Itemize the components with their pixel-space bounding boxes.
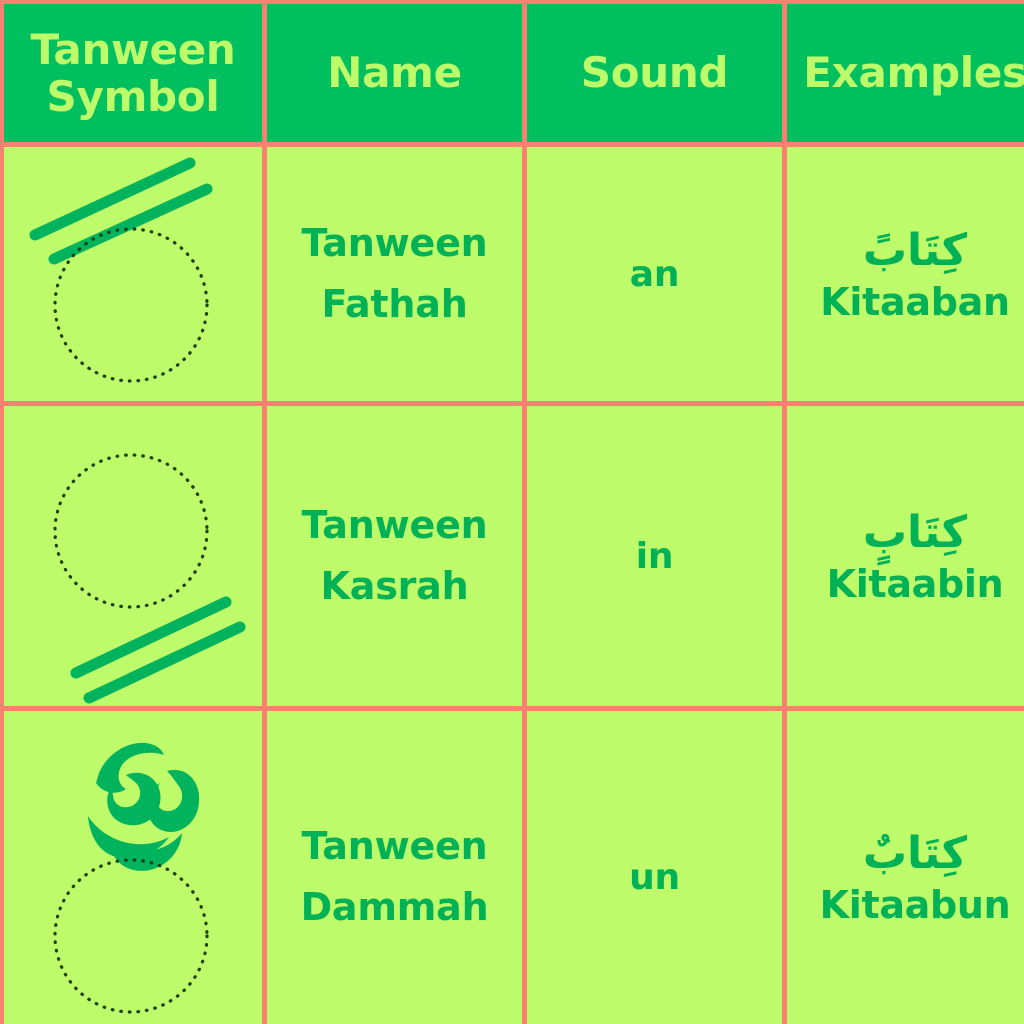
example-transliteration-text: Kitaabin: [827, 562, 1004, 608]
tanween-table: Tanween Symbol Name Sound Examples Tanwe…: [0, 0, 1024, 1024]
cell-example-row-2: كِتَابٍ Kitaabin: [787, 406, 1024, 706]
example-arabic-text: كِتَابٌ: [863, 826, 967, 881]
example-arabic-text: كِتَابٍ: [863, 505, 967, 560]
example-transliteration-text: Kitaabun: [820, 883, 1011, 929]
example-arabic-text: كِتَابً: [863, 223, 967, 278]
cell-name-row-2: Tanween Kasrah: [267, 406, 522, 706]
cell-sound-row-3: un: [527, 711, 782, 1024]
tanween-fathah-icon: [4, 147, 262, 401]
table-row: [4, 711, 262, 1024]
column-header-examples: Examples: [787, 4, 1024, 142]
cell-name-row-1: Tanween Fathah: [267, 147, 522, 401]
tanween-sound-label: an: [630, 254, 680, 295]
tanween-name-label: Tanween Fathah: [267, 213, 522, 335]
column-header-tanween-symbol: Tanween Symbol: [4, 4, 262, 142]
example-transliteration-text: Kitaaban: [820, 280, 1009, 326]
cell-example-row-3: كِتَابٌ Kitaabun: [787, 711, 1024, 1024]
tanween-kasrah-icon: [4, 406, 262, 706]
column-header-sound-label: Sound: [581, 49, 728, 96]
tanween-sound-label: un: [629, 857, 680, 898]
column-header-tanween-symbol-label: Tanween Symbol: [10, 26, 256, 120]
column-header-examples-label: Examples: [803, 49, 1024, 96]
cell-example-row-1: كِتَابً Kitaaban: [787, 147, 1024, 401]
table-row: [4, 147, 262, 401]
cell-sound-row-1: an: [527, 147, 782, 401]
column-header-sound: Sound: [527, 4, 782, 142]
column-header-name-label: Name: [327, 49, 462, 96]
tanween-name-label: Tanween Kasrah: [267, 495, 522, 617]
cell-name-row-3: Tanween Dammah: [267, 711, 522, 1024]
cell-sound-row-2: in: [527, 406, 782, 706]
column-header-name: Name: [267, 4, 522, 142]
table-row: [4, 406, 262, 706]
tanween-sound-label: in: [636, 536, 674, 577]
tanween-dammah-icon: [4, 711, 262, 1024]
tanween-name-label: Tanween Dammah: [267, 816, 522, 938]
